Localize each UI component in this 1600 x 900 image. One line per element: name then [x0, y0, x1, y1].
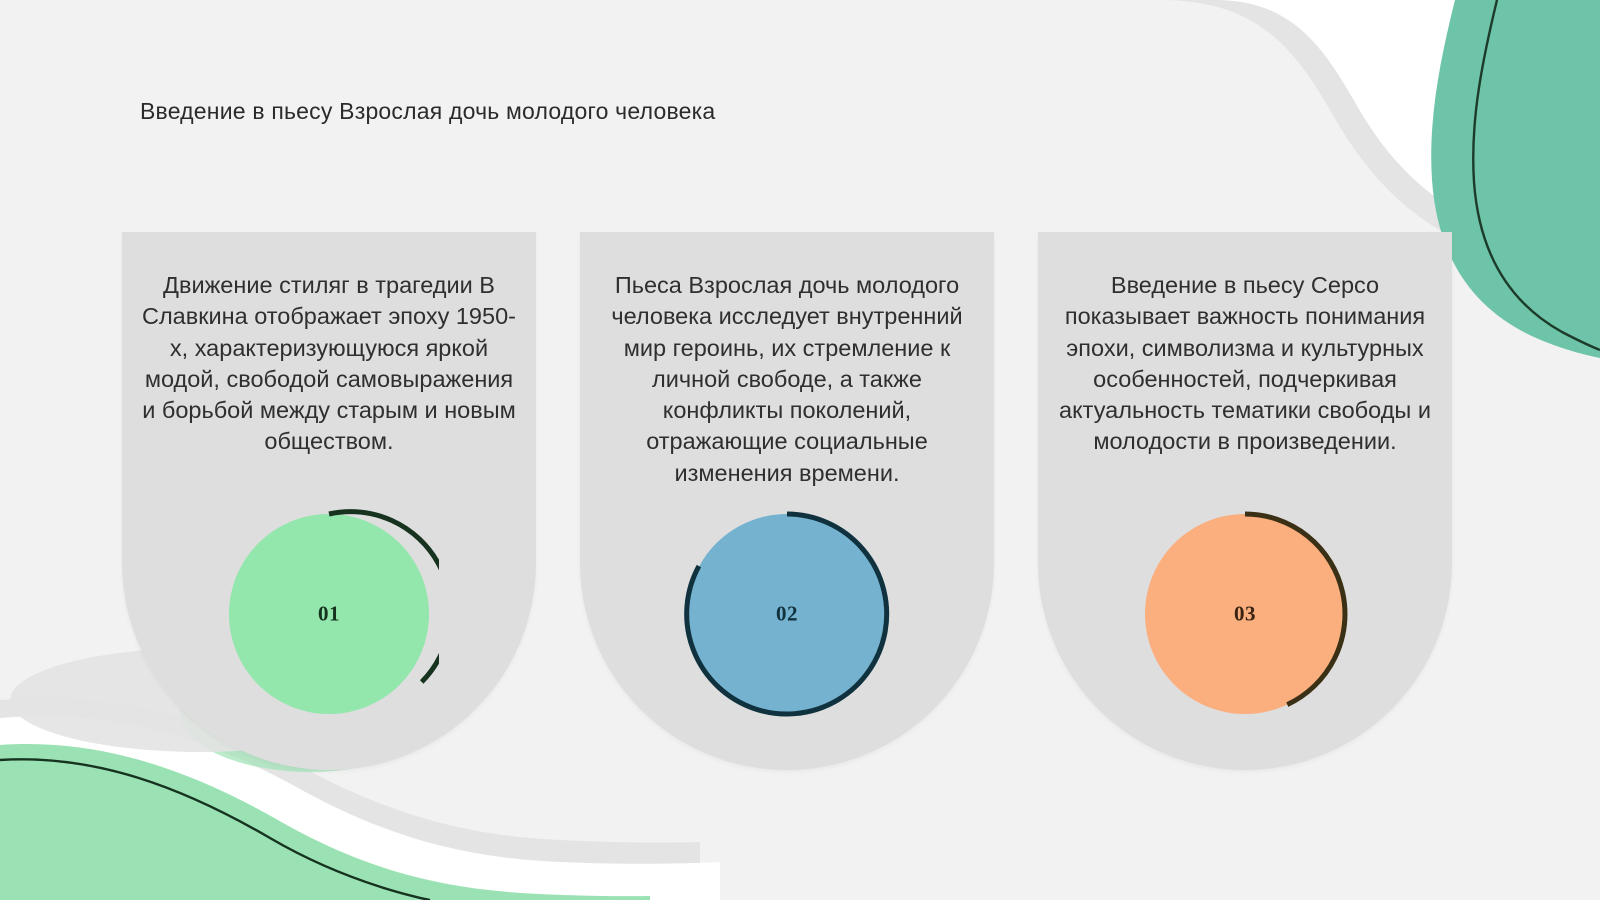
step-badge-03[interactable]: 03	[1135, 504, 1355, 724]
info-card-03[interactable]: Введение в пьесу Серсо показывает важнос…	[1038, 232, 1452, 770]
info-card-01[interactable]: Движение стиляг в трагедии В Славкина от…	[122, 232, 536, 770]
card-description: Введение в пьесу Серсо показывает важнос…	[1038, 270, 1452, 458]
slide-canvas: Введение в пьесу Взрослая дочь молодого …	[0, 0, 1600, 900]
info-card-02[interactable]: Пьеса Взрослая дочь молодого человека ис…	[580, 232, 994, 770]
step-badge-02[interactable]: 02	[677, 504, 897, 724]
page-title: Введение в пьесу Взрослая дочь молодого …	[140, 98, 715, 125]
step-number: 02	[677, 602, 897, 627]
card-description: Пьеса Взрослая дочь молодого человека ис…	[580, 270, 994, 489]
step-number: 01	[219, 602, 439, 627]
step-number: 03	[1135, 602, 1355, 627]
card-description: Движение стиляг в трагедии В Славкина от…	[122, 270, 536, 458]
cards-row: Движение стиляг в трагедии В Славкина от…	[122, 232, 1452, 770]
step-badge-01[interactable]: 01	[219, 504, 439, 724]
